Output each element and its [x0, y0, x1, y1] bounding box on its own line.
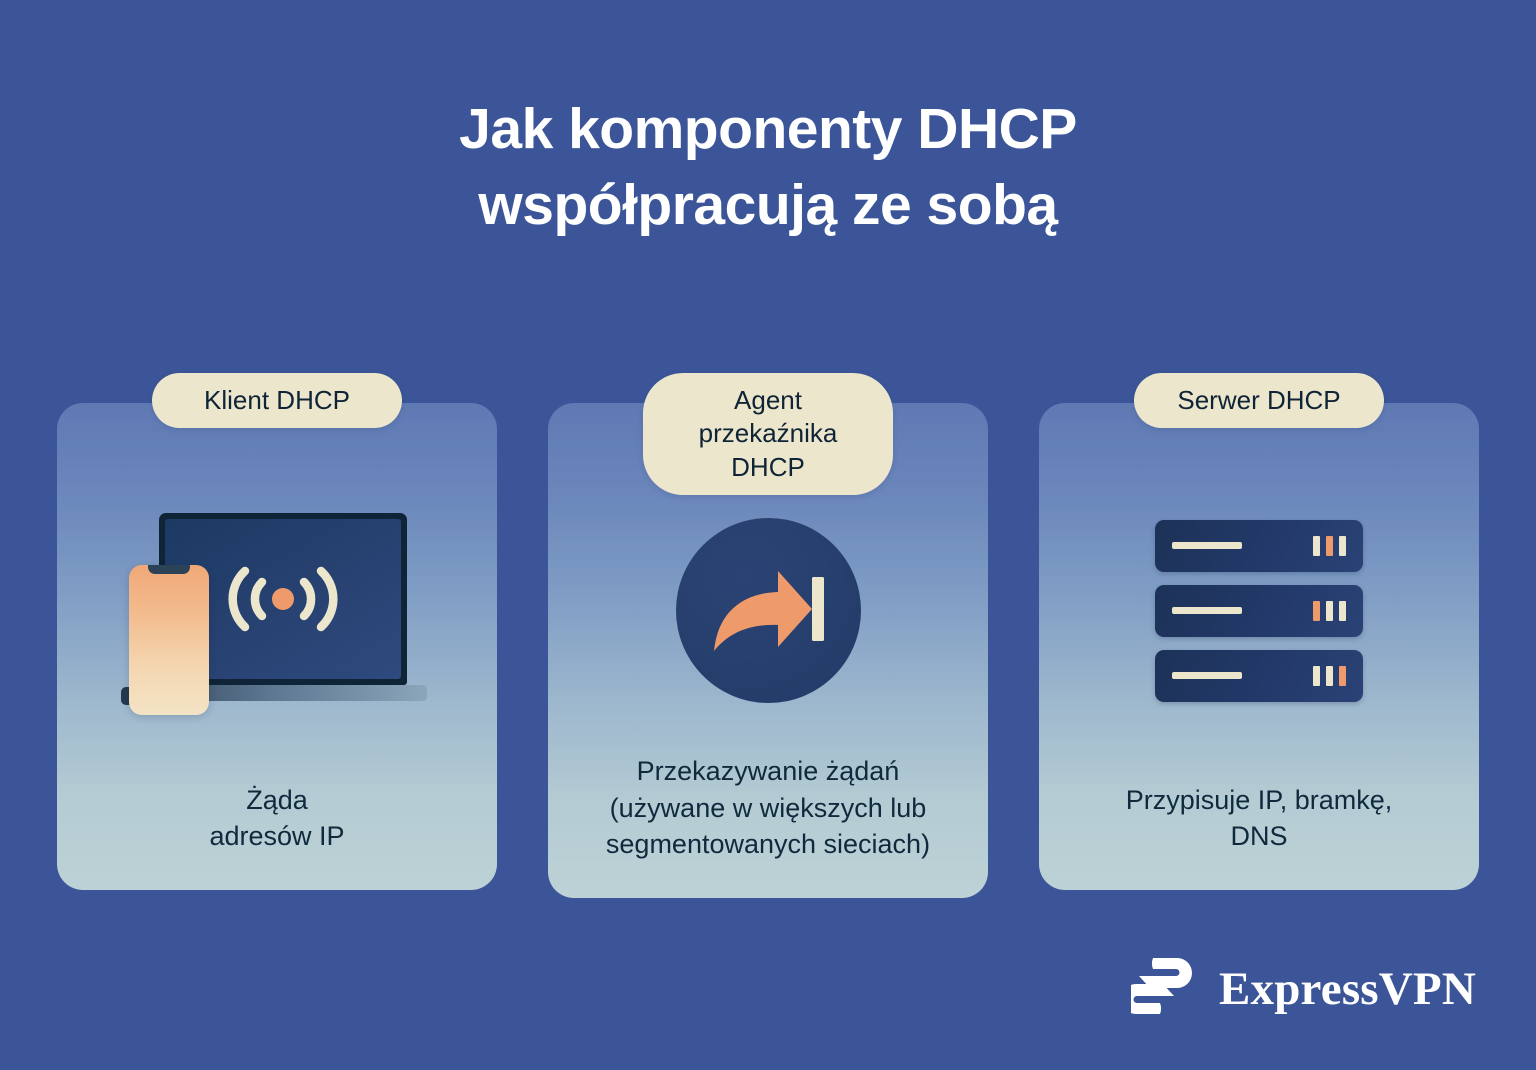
- server-label-bar: [1172, 542, 1242, 549]
- server-label-bar: [1172, 607, 1242, 614]
- server-unit-3: [1155, 650, 1363, 702]
- server-unit-1: [1155, 520, 1363, 572]
- card-dhcp-relay-agent: Agent przekaźnika DHCP Przekazywanie żąd…: [548, 403, 988, 898]
- server-led: [1326, 601, 1333, 621]
- server-led: [1339, 536, 1346, 556]
- phone-notch: [148, 565, 190, 574]
- infographic-page: { "page": { "background_color": "#3b5598…: [0, 0, 1536, 1070]
- description-dhcp-relay-agent: Przekazywanie żądań (używane w większych…: [586, 753, 950, 862]
- server-led-group: [1313, 666, 1346, 686]
- server-led: [1313, 666, 1320, 686]
- server-unit-2: [1155, 585, 1363, 637]
- smartphone-icon: [129, 565, 209, 715]
- icon-area-server: [1039, 503, 1479, 718]
- server-label-bar: [1172, 672, 1242, 679]
- server-stack-icon: [1155, 520, 1363, 702]
- badge-dhcp-relay-agent: Agent przekaźnika DHCP: [643, 373, 893, 495]
- server-led-group: [1313, 536, 1346, 556]
- wifi-signal-icon: [218, 553, 348, 645]
- icon-area-client: [57, 503, 497, 718]
- expressvpn-wordmark: ExpressVPN: [1219, 962, 1476, 1016]
- server-led: [1326, 666, 1333, 686]
- page-title-line-1: Jak komponenty DHCP: [0, 92, 1536, 168]
- server-led-group: [1313, 601, 1346, 621]
- description-dhcp-client: Żąda adresów IP: [189, 782, 364, 854]
- card-dhcp-client: Klient DHCP: [57, 403, 497, 890]
- server-led: [1313, 536, 1320, 556]
- server-led-active: [1313, 601, 1320, 621]
- page-title: Jak komponenty DHCP współpracują ze sobą: [0, 92, 1536, 244]
- expressvpn-e-mark-icon: [1131, 952, 1203, 1025]
- server-led-active: [1339, 666, 1346, 686]
- icon-area-relay: [548, 503, 988, 718]
- expressvpn-logo: ExpressVPN: [1131, 952, 1476, 1025]
- server-led-active: [1326, 536, 1333, 556]
- badge-dhcp-server: Serwer DHCP: [1134, 373, 1384, 428]
- server-led: [1339, 601, 1346, 621]
- page-title-line-2: współpracują ze sobą: [0, 168, 1536, 244]
- laptop-phone-wifi-icon: [107, 503, 447, 718]
- forward-arrow-circle-icon: [676, 518, 861, 703]
- description-dhcp-server: Przypisuje IP, bramkę, DNS: [1106, 782, 1413, 854]
- cards-row: Klient DHCP: [57, 403, 1479, 893]
- badge-dhcp-client: Klient DHCP: [152, 373, 402, 428]
- card-dhcp-server: Serwer DHCP: [1039, 403, 1479, 890]
